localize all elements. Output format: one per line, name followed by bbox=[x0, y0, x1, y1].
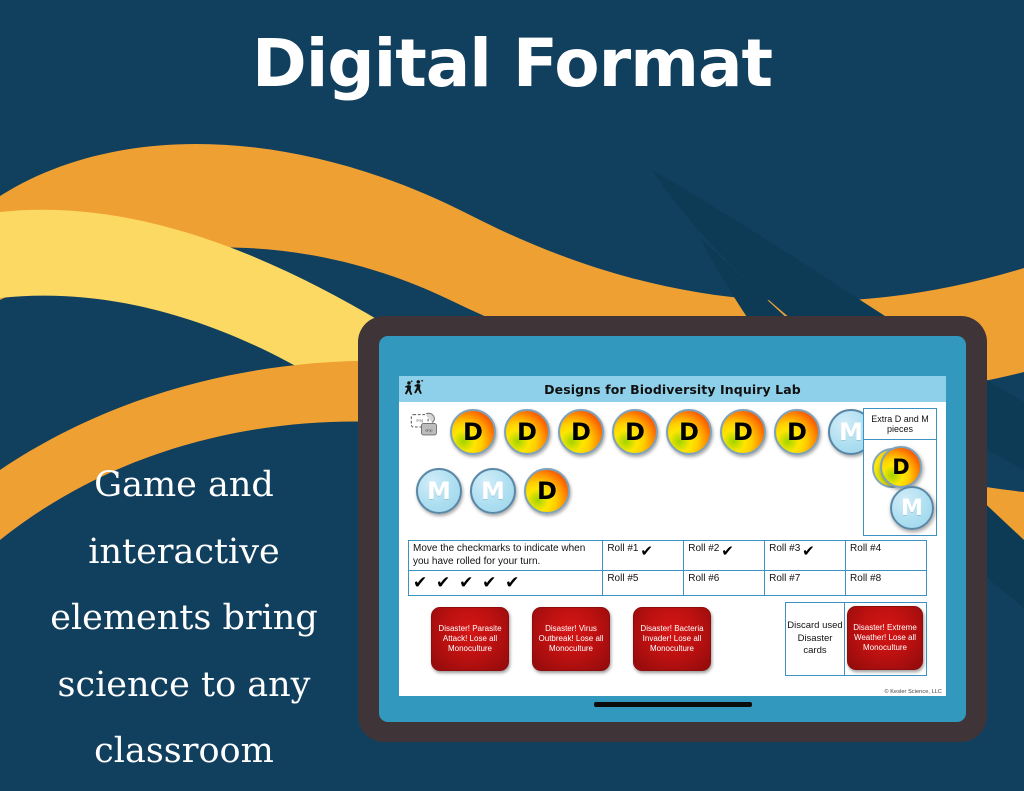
roll-label: Roll #4 bbox=[850, 543, 881, 554]
roll-label: Roll #6 bbox=[688, 573, 719, 584]
game-piece-d[interactable]: D bbox=[558, 409, 604, 455]
checkmark-icon[interactable]: ✔ bbox=[640, 542, 653, 560]
checkmark-icon[interactable]: ✔ bbox=[721, 542, 734, 560]
roll-label: Roll #1 bbox=[607, 543, 638, 554]
disaster-card[interactable]: Disaster! Parasite Attack! Lose all Mono… bbox=[431, 607, 509, 671]
game-pieces-area[interactable]: drag drop D D D D D D D M bbox=[408, 408, 863, 534]
game-piece-d[interactable]: D bbox=[720, 409, 766, 455]
disaster-cards-area: Disaster! Parasite Attack! Lose all Mono… bbox=[408, 602, 927, 682]
discard-pile-box[interactable]: Discard used Disaster cards Disaster! Ex… bbox=[785, 602, 927, 676]
page-title: Digital Format bbox=[0, 28, 1024, 101]
home-indicator-bar[interactable] bbox=[594, 702, 752, 707]
checkmark-icon[interactable]: ✔ bbox=[505, 573, 519, 593]
roll-cell-2[interactable]: Roll #2 ✔ bbox=[684, 541, 765, 571]
extra-pieces-label: Extra D and M pieces bbox=[864, 409, 936, 440]
roll-cell-1[interactable]: Roll #1 ✔ bbox=[603, 541, 684, 571]
body-copy: Game and interactive elements bring scie… bbox=[8, 452, 360, 785]
checkmark-icon[interactable]: ✔ bbox=[482, 573, 496, 593]
body-line-3: elements bring bbox=[8, 585, 360, 652]
tablet-screen[interactable]: Designs for Biodiversity Inquiry Lab dra… bbox=[379, 336, 966, 722]
checkmark-icon[interactable]: ✔ bbox=[436, 573, 450, 593]
roll-label: Roll #3 bbox=[769, 543, 800, 554]
roll-tracker-table: Move the checkmarks to indicate when you… bbox=[408, 540, 927, 596]
disaster-card[interactable]: Disaster! Virus Outbreak! Lose all Monoc… bbox=[532, 607, 610, 671]
roll-cell-5[interactable]: Roll #5 bbox=[603, 571, 684, 596]
body-line-4: science to any bbox=[8, 652, 360, 719]
body-line-2: interactive bbox=[8, 519, 360, 586]
copyright-notice: © Kesler Science, LLC bbox=[884, 689, 942, 695]
svg-text:drop: drop bbox=[425, 428, 432, 432]
table-row: ✔ ✔ ✔ ✔ ✔ Roll #5 Roll #6 bbox=[409, 571, 927, 596]
roll-cell-8[interactable]: Roll #8 bbox=[846, 571, 927, 596]
game-piece-d[interactable]: D bbox=[774, 409, 820, 455]
extra-pieces-tray[interactable]: D M bbox=[864, 440, 936, 534]
game-piece-d[interactable]: D bbox=[612, 409, 658, 455]
lesson-body: drag drop D D D D D D D M bbox=[399, 402, 946, 696]
roll-cell-4[interactable]: Roll #4 bbox=[846, 541, 927, 571]
roll-label: Roll #2 bbox=[688, 543, 719, 554]
roll-label: Roll #7 bbox=[769, 573, 800, 584]
body-line-1: Game and bbox=[8, 452, 360, 519]
extra-game-piece-d[interactable]: D bbox=[880, 446, 922, 488]
lesson-slide[interactable]: Designs for Biodiversity Inquiry Lab dra… bbox=[399, 376, 946, 696]
slide-canvas: Digital Format Game and interactive elem… bbox=[0, 0, 1024, 791]
roll-cell-6[interactable]: Roll #6 bbox=[684, 571, 765, 596]
lesson-header: Designs for Biodiversity Inquiry Lab bbox=[399, 376, 946, 402]
disaster-card[interactable]: Disaster! Bacteria Invader! Lose all Mon… bbox=[633, 607, 711, 671]
game-piece-d[interactable]: D bbox=[504, 409, 550, 455]
checkmark-icon[interactable]: ✔ bbox=[459, 573, 473, 593]
discard-pile-label: Discard used Disaster cards bbox=[786, 603, 845, 675]
checkmark-icon[interactable]: ✔ bbox=[413, 573, 427, 593]
game-piece-m[interactable]: M bbox=[416, 468, 462, 514]
roll-label: Roll #8 bbox=[850, 573, 881, 584]
roll-cell-3[interactable]: Roll #3 ✔ bbox=[765, 541, 846, 571]
game-piece-d[interactable]: D bbox=[524, 468, 570, 514]
discard-pile-slot[interactable]: Disaster! Extreme Weather! Lose all Mono… bbox=[845, 603, 926, 675]
roll-label: Roll #5 bbox=[607, 573, 638, 584]
lesson-title: Designs for Biodiversity Inquiry Lab bbox=[399, 382, 946, 397]
svg-text:drag: drag bbox=[416, 419, 423, 423]
checkmark-icon[interactable]: ✔ bbox=[802, 542, 815, 560]
game-piece-d[interactable]: D bbox=[450, 409, 496, 455]
game-piece-d[interactable]: D bbox=[666, 409, 712, 455]
game-piece-m[interactable]: M bbox=[470, 468, 516, 514]
body-line-5: classroom bbox=[8, 718, 360, 785]
extra-pieces-box: Extra D and M pieces D M bbox=[863, 408, 937, 536]
checkmark-supply[interactable]: ✔ ✔ ✔ ✔ ✔ bbox=[409, 571, 603, 596]
table-row: Move the checkmarks to indicate when you… bbox=[409, 541, 927, 571]
extra-game-piece-m[interactable]: M bbox=[890, 486, 934, 530]
drag-pieces-icon: drag drop bbox=[410, 412, 440, 442]
roll-cell-7[interactable]: Roll #7 bbox=[765, 571, 846, 596]
tablet-device: Designs for Biodiversity Inquiry Lab dra… bbox=[358, 316, 987, 742]
kesler-figures-icon bbox=[404, 379, 426, 399]
disaster-card[interactable]: Disaster! Extreme Weather! Lose all Mono… bbox=[847, 606, 923, 670]
roll-instruction: Move the checkmarks to indicate when you… bbox=[409, 541, 603, 571]
